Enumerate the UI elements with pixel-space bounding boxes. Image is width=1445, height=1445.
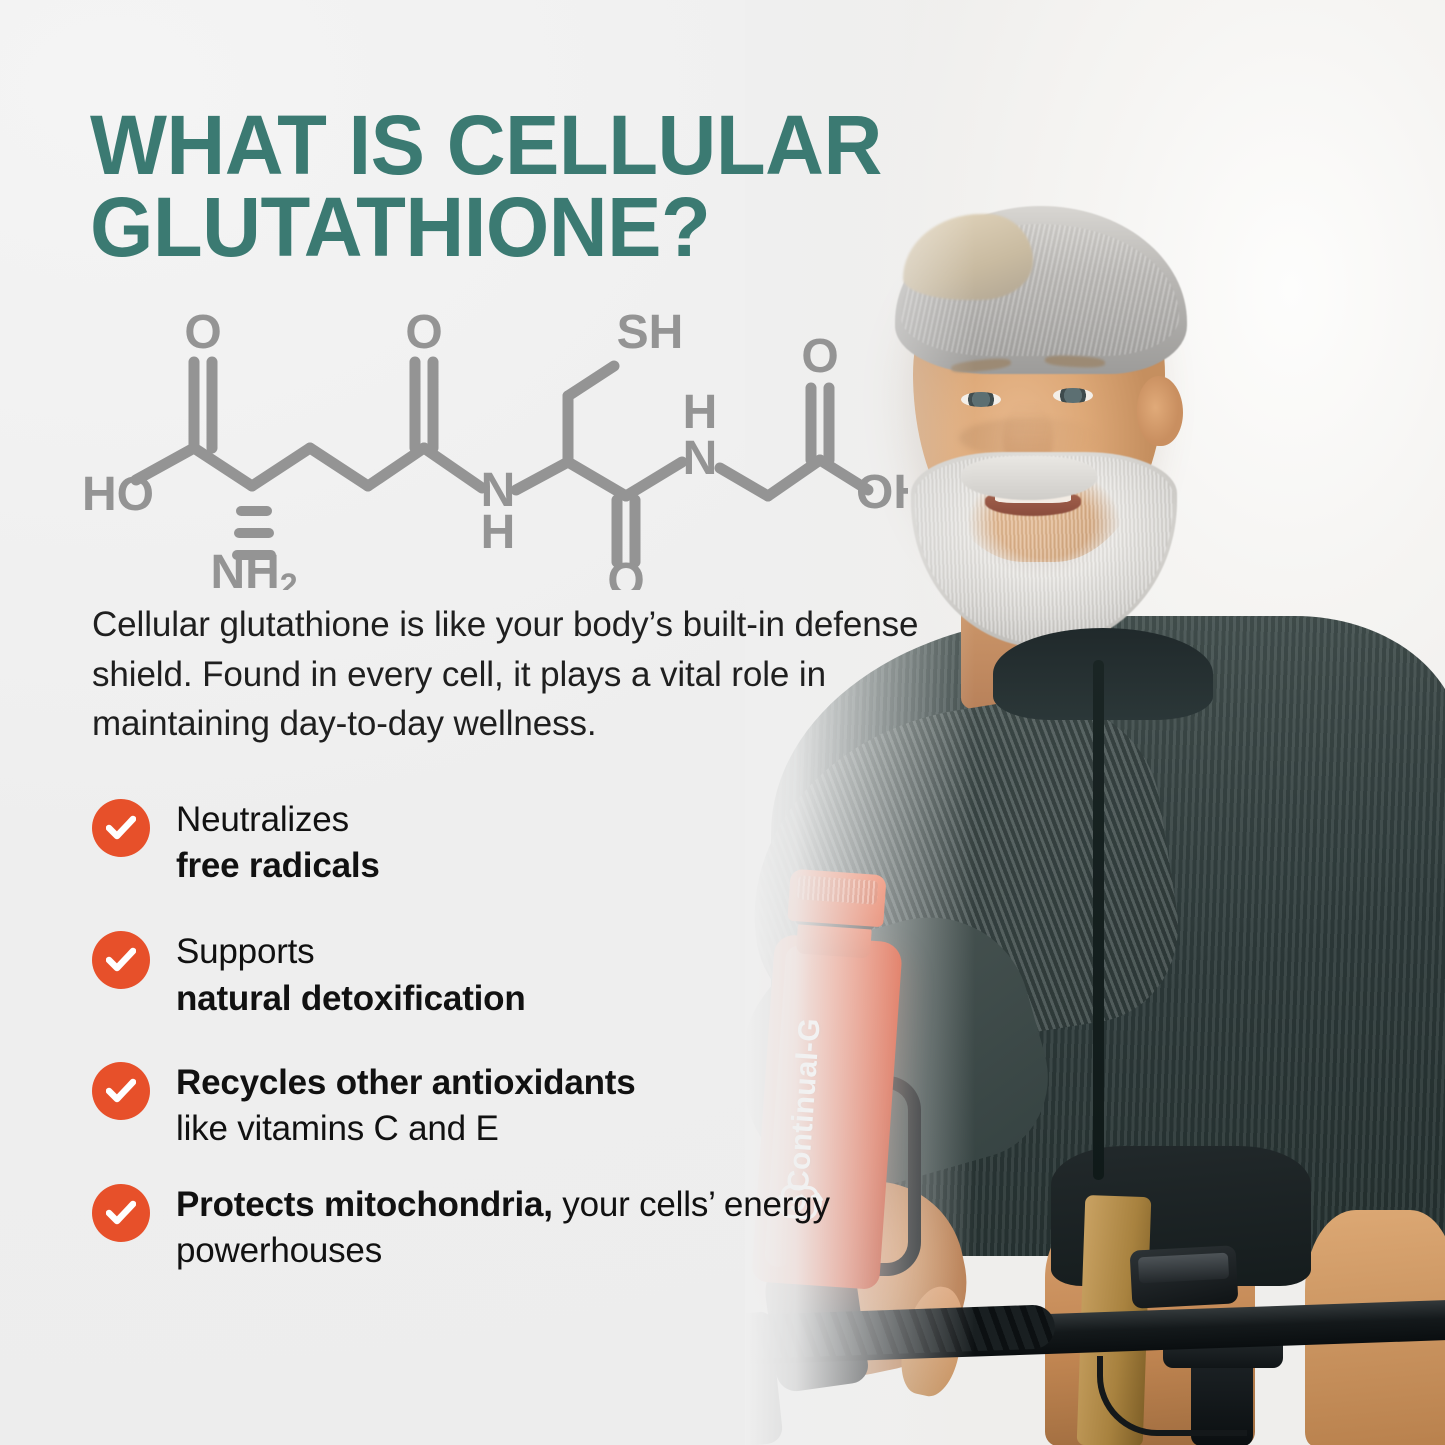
- molecule-label-sh: SH: [617, 306, 684, 359]
- bullet-0-bold: free radicals: [176, 846, 380, 885]
- bullet-1-normal-before: Supports: [176, 932, 315, 971]
- eye-right: [1053, 388, 1093, 403]
- title-line-2: GLUTATHIONE?: [90, 186, 944, 268]
- list-item: Neutralizes free radicals: [92, 795, 902, 889]
- infographic-poster: Continual-G WHAT IS CELLULAR: [0, 0, 1445, 1445]
- bullet-2-normal-after: like vitamins C and E: [176, 1109, 499, 1148]
- check-circle-icon: [92, 1062, 150, 1120]
- molecule-label-o2: O: [405, 306, 442, 359]
- list-item-text: Recycles other antioxidants like vitamin…: [176, 1058, 635, 1152]
- molecule-label-o3: O: [607, 554, 644, 590]
- bullet-1-bold: natural detoxification: [176, 979, 526, 1018]
- list-item: Recycles other antioxidants like vitamin…: [92, 1058, 902, 1152]
- list-item-text: Neutralizes free radicals: [176, 795, 380, 889]
- list-item: Protects mitochondria, your cells’ energ…: [92, 1180, 902, 1274]
- title-line-1: WHAT IS CELLULAR: [90, 104, 944, 186]
- list-item-text: Supports natural detoxification: [176, 927, 526, 1021]
- intro-paragraph: Cellular glutathione is like your body’s…: [92, 600, 992, 749]
- bullet-2-bold: Recycles other antioxidants: [176, 1063, 635, 1102]
- check-circle-icon: [92, 931, 150, 989]
- molecule-label-o1: O: [184, 306, 221, 359]
- molecule-label-o4: O: [801, 330, 838, 383]
- molecule-label-ho: HO: [82, 468, 154, 521]
- check-circle-icon: [92, 1184, 150, 1242]
- bullet-0-normal-before: Neutralizes: [176, 800, 349, 839]
- molecule-label-oh: OH: [856, 466, 908, 519]
- molecule-label-amide2-n: N: [683, 432, 718, 485]
- list-item-text: Protects mitochondria, your cells’ energ…: [176, 1180, 902, 1274]
- bullet-3-bold: Protects mitochondria,: [176, 1185, 553, 1224]
- glutathione-molecule-diagram: O HO NH2 O N H SH H N O O OH: [78, 300, 908, 590]
- check-circle-icon: [92, 799, 150, 857]
- molecule-label-amide1-h: H: [481, 506, 516, 559]
- jersey-zipper: [1093, 660, 1104, 1180]
- ear: [1137, 376, 1183, 446]
- page-title: WHAT IS CELLULAR GLUTATHIONE?: [90, 104, 944, 269]
- molecule-label-nh2: NH2: [210, 546, 297, 590]
- benefits-list: Neutralizes free radicals Supports natur…: [92, 795, 902, 1311]
- content-column: WHAT IS CELLULAR GLUTATHIONE?: [0, 0, 1000, 1445]
- list-item: Supports natural detoxification: [92, 927, 902, 1021]
- bike-computer: [1130, 1245, 1239, 1308]
